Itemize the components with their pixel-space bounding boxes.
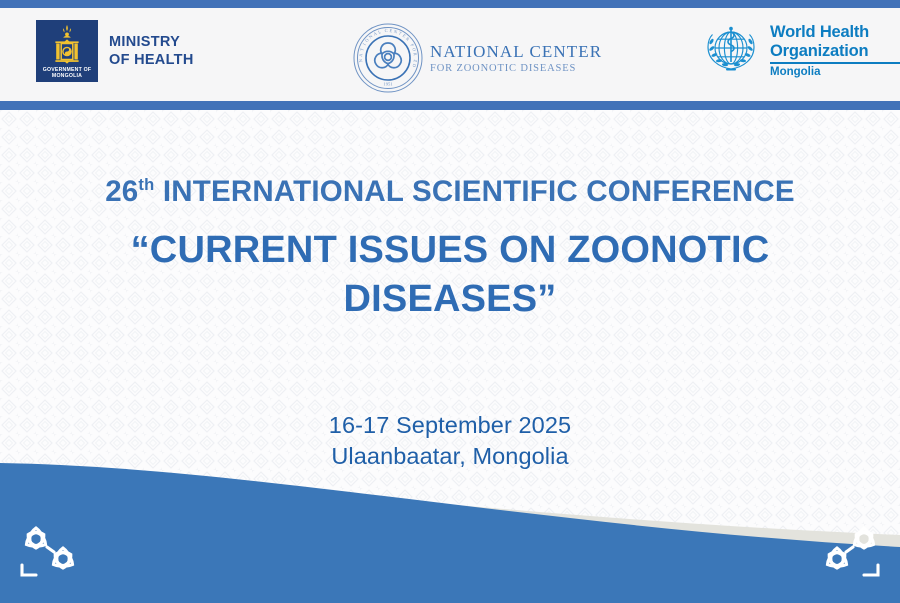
top-accent-bar: [0, 0, 900, 8]
logo-ministry-of-health: GOVERNMENT OF MONGOLIA MINISTRY OF HEALT…: [36, 20, 194, 82]
conference-heading: 26th INTERNATIONAL SCIENTIFIC CONFERENCE: [0, 175, 900, 209]
svg-text:C: C: [384, 28, 387, 33]
svg-text:N: N: [358, 58, 363, 63]
who-country-label: Mongolia: [770, 66, 900, 79]
svg-text:D: D: [412, 63, 418, 67]
mongolian-ulzii-knot-ornament-right-icon: [810, 519, 886, 581]
topic-heading: “CURRENT ISSUES ON ZOONOTIC DISEASES”: [0, 226, 900, 324]
svg-text:A: A: [358, 52, 363, 57]
ministry-of-health-wordmark: MINISTRY OF HEALTH: [109, 33, 194, 69]
who-underline-rule: [770, 62, 900, 64]
logo-world-health-organization: World Health Organization Mongolia: [700, 20, 900, 82]
svg-text:O: O: [411, 47, 417, 52]
title-block: 26th INTERNATIONAL SCIENTIFIC CONFERENCE…: [0, 175, 900, 324]
svg-text:L: L: [377, 29, 381, 35]
conference-heading-text: INTERNATIONAL SCIENTIFIC CONFERENCE: [154, 175, 794, 208]
nczd-wordmark-line2: FOR ZOONOTIC DISEASES: [430, 62, 602, 75]
nczd-circular-seal-icon: N A T I O N A L C E N T E R F O R: [352, 22, 424, 94]
svg-text:E: E: [389, 28, 393, 33]
mongolia-soyombo-emblem-icon: GOVERNMENT OF MONGOLIA: [36, 20, 98, 82]
svg-text:T: T: [359, 47, 365, 51]
soyombo-glyph-icon: [51, 24, 83, 68]
mongolian-ulzii-knot-ornament-left-icon: [14, 519, 90, 581]
emblem-label: GOVERNMENT OF MONGOLIA: [43, 67, 91, 79]
header-divider-bar: [0, 101, 900, 110]
nczd-wordmark-line1: NATIONAL CENTER: [430, 42, 602, 61]
who-wordmark-line2: Organization: [770, 42, 900, 61]
who-globe-laurel-asclepius-icon: [700, 20, 762, 82]
logo-national-center-zoonotic-diseases: N A T I O N A L C E N T E R F O R: [352, 22, 602, 94]
svg-text:R: R: [405, 36, 411, 42]
topic-heading-line1: “CURRENT ISSUES ON ZOONOTIC: [0, 226, 900, 275]
svg-text:Z: Z: [413, 59, 418, 63]
conference-ordinal-suffix: th: [138, 175, 154, 194]
svg-text:R: R: [413, 52, 418, 56]
topic-heading-line2: DISEASES”: [0, 275, 900, 324]
event-dates: 16-17 September 2025: [0, 410, 900, 441]
conference-ordinal: 26: [105, 175, 138, 208]
who-wordmark-line1: World Health: [770, 23, 900, 42]
bottom-wave-decoration: [0, 463, 900, 603]
conference-title-slide: GOVERNMENT OF MONGOLIA MINISTRY OF HEALT…: [0, 0, 900, 603]
seal-year-label: 1951: [383, 82, 393, 87]
